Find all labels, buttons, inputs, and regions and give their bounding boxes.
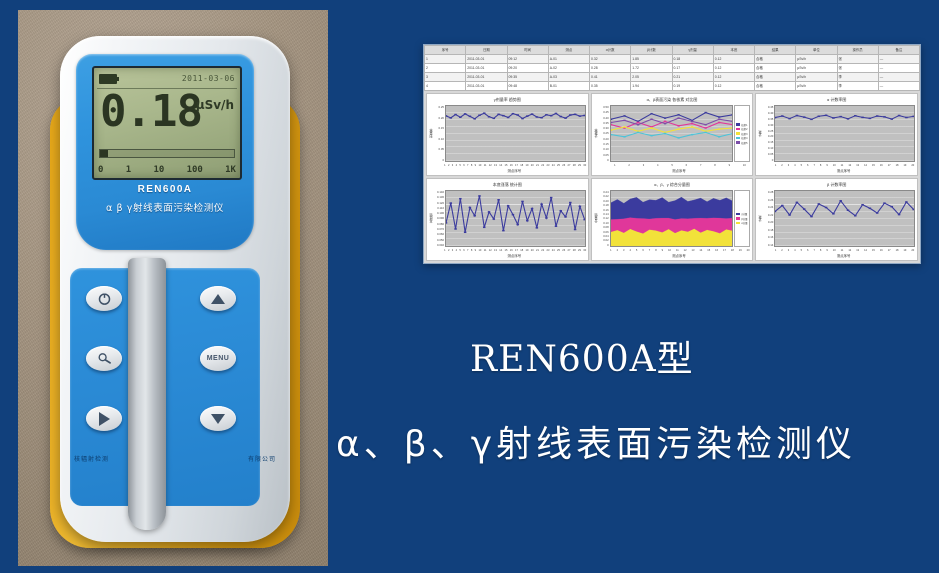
table-cell: 1.85 (631, 55, 672, 64)
legend-item: γ分量 (736, 212, 748, 216)
y-tick-label: 0.35 (599, 121, 609, 125)
table-cell: 2 (425, 64, 466, 73)
table-cell: μSv/h (796, 64, 837, 73)
x-tick-label: 9 (475, 164, 476, 167)
backlight-button[interactable] (86, 346, 122, 371)
x-tick-label: 19 (526, 249, 529, 252)
lcd-bargraph (99, 149, 235, 158)
y-tick-label: 0.25 (434, 105, 444, 109)
x-tick-label: 5 (636, 249, 637, 252)
table-cell: 09:48 (507, 82, 548, 91)
chart-y-ticks: 0.240.220.200.180.160.140.120.100.080.06… (599, 190, 610, 247)
x-tick-label: 8 (655, 249, 656, 252)
chart-y-axis-label: 本底值 (428, 190, 434, 247)
y-tick-label: 0.30 (599, 126, 609, 130)
chart-legend: γ分量β分量α分量 (734, 190, 750, 247)
x-tick-label: 8 (714, 164, 715, 167)
x-tick-label: 11 (841, 249, 844, 252)
x-tick-label: 13 (856, 249, 859, 252)
y-tick-label: 0.35 (763, 117, 773, 121)
table-header-cell: 序号 (425, 46, 466, 55)
x-tick-label: 1 (775, 164, 776, 167)
table-header-cell: 测点 (548, 46, 589, 55)
table-cell: B-01 (548, 82, 589, 91)
footer-left-text: 核辐射检测 (74, 454, 109, 463)
x-tick-label: 15 (707, 249, 710, 252)
lcd-screen: 2011-03-06 0.18 μSv/h 0 1 10 100 1K (92, 66, 242, 180)
x-tick-label: 18 (520, 249, 523, 252)
y-tick-label: 0.10 (434, 137, 444, 141)
table-cell: 合格 (755, 82, 796, 91)
table-row[interactable]: 22011-03-0109:20A-020.281.720.170.12合格μS… (425, 64, 920, 73)
y-tick-label: 0.090 (434, 216, 444, 220)
chart-plot-area (774, 105, 915, 162)
x-tick-label: 13 (856, 164, 859, 167)
x-tick-label: 17 (888, 164, 891, 167)
x-tick-label: 3 (452, 249, 453, 252)
down-button[interactable] (200, 406, 236, 431)
y-tick-label: 0.130 (434, 195, 444, 199)
table-header-cell: 时间 (507, 46, 548, 55)
x-tick-label: 1 (775, 249, 776, 252)
legend-swatch (736, 213, 740, 216)
x-tick-label: 8 (471, 249, 472, 252)
y-tick-label: 0.24 (599, 190, 609, 194)
scale-tick: 10 (153, 165, 164, 175)
table-cell: μSv/h (796, 82, 837, 91)
legend-swatch (736, 217, 740, 220)
lcd-scale-ticks: 0 1 10 100 1K (98, 164, 236, 176)
y-tick-label: 0.05 (763, 152, 773, 156)
table-header-cell: 结果 (755, 46, 796, 55)
x-tick-label: 15 (872, 164, 875, 167)
x-tick-label: 17 (515, 249, 518, 252)
lamp-icon (97, 351, 112, 366)
x-tick-label: 12 (489, 249, 492, 252)
table-cell: 09:12 (507, 55, 548, 64)
table-row[interactable]: 12011-03-0109:12A-010.321.850.180.12合格μS… (425, 55, 920, 64)
y-tick-label: 0.20 (599, 137, 609, 141)
table-row[interactable]: 42011-03-0109:48B-010.351.940.190.12合格μS… (425, 82, 920, 91)
y-tick-label: 0.140 (434, 190, 444, 194)
legend-swatch (736, 123, 740, 126)
chart-legend: 核素1核素2核素3核素4核素5 (734, 105, 750, 162)
chart-title: α、β、γ 综合分量图 (592, 179, 753, 189)
y-tick-label: 0.45 (599, 110, 609, 114)
x-tick-label: 23 (547, 249, 550, 252)
table-cell: — (878, 55, 919, 64)
x-tick-label: 26 (562, 164, 565, 167)
y-tick-label: 0.120 (434, 201, 444, 205)
x-tick-label: 6 (807, 164, 808, 167)
legend-item: 核素4 (736, 136, 748, 140)
y-tick-label: 0.08 (599, 225, 609, 229)
x-tick-label: 14 (699, 249, 702, 252)
y-tick-label: 0.15 (599, 142, 609, 146)
x-tick-label: 16 (715, 249, 718, 252)
x-tick-label: 18 (896, 249, 899, 252)
y-tick-label: 0.18 (599, 203, 609, 207)
x-tick-label: 5 (801, 249, 802, 252)
legend-item: 核素1 (736, 123, 748, 127)
x-tick-label: 5 (459, 164, 460, 167)
x-tick-label: 7 (467, 164, 468, 167)
x-tick-label: 30 (583, 164, 586, 167)
y-tick-label: 0.40 (599, 116, 609, 120)
table-cell: 1.94 (631, 82, 672, 91)
device-footer-text: 核辐射检测 有限公司 (50, 454, 300, 463)
x-tick-label: 22 (541, 164, 544, 167)
y-tick-label: 0.22 (599, 194, 609, 198)
x-tick-label: 11 (676, 249, 679, 252)
slide-canvas: 2011-03-06 0.18 μSv/h 0 1 10 100 1K (0, 0, 939, 573)
table-header-cell: 本底 (713, 46, 754, 55)
x-tick-label: 28 (573, 164, 576, 167)
x-tick-label: 4 (657, 164, 658, 167)
play-icon (99, 412, 110, 426)
chart-body: 计数0.450.400.350.300.250.200.150.100.050 (756, 104, 917, 162)
menu-button-label: MENU (207, 355, 230, 362)
table-header-cell: 日期 (466, 46, 507, 55)
table-row[interactable]: 32011-03-0109:35A-030.412.050.210.12合格μS… (425, 73, 920, 82)
x-tick-label: 20 (747, 249, 750, 252)
y-tick-label: 0.070 (434, 227, 444, 231)
y-tick-label: 0.40 (763, 111, 773, 115)
chart-x-axis-label: 测点序号 (427, 168, 588, 175)
chart-x-axis-label: 测点序号 (592, 168, 753, 175)
lcd-reading-value: 0.18 (100, 90, 242, 134)
table-header-row: 序号日期时间测点α计数β计数γ剂量本底结果单位操作员备注 (425, 46, 920, 55)
legend-label: β分量 (741, 217, 747, 221)
x-tick-label: 6 (463, 164, 464, 167)
chart-y-axis-label: 计数 (757, 190, 763, 247)
x-tick-label: 6 (463, 249, 464, 252)
x-tick-label: 2 (448, 249, 449, 252)
x-tick-label: 24 (552, 249, 555, 252)
device-model-label: REN600A (76, 184, 254, 195)
chart-x-axis-label: 测点序号 (592, 253, 753, 260)
legend-swatch (736, 222, 740, 225)
x-tick-label: 20 (531, 249, 534, 252)
x-tick-label: 13 (494, 249, 497, 252)
x-tick-label: 12 (684, 249, 687, 252)
chart-y-axis-label: 剂量率 (428, 105, 434, 162)
x-tick-label: 3 (452, 164, 453, 167)
x-tick-label: 9 (662, 249, 663, 252)
y-tick-label: 0.04 (599, 234, 609, 238)
x-tick-label: 1 (614, 164, 615, 167)
y-tick-label: 0.45 (763, 105, 773, 109)
legend-label: 核素2 (741, 127, 747, 131)
page-title-product: α、β、γ射线表面污染检测仪 (336, 415, 936, 467)
chart-body: 本底值0.1400.1300.1200.1100.1000.0900.0800.… (427, 189, 588, 247)
x-tick-label: 24 (552, 164, 555, 167)
legend-swatch (736, 132, 740, 135)
x-tick-label: 10 (743, 164, 746, 167)
y-tick-label: 0.26 (763, 198, 773, 202)
table-header-cell: 备注 (878, 46, 919, 55)
legend-item: β分量 (736, 217, 748, 221)
x-tick-label: 28 (573, 249, 576, 252)
x-tick-label: 4 (456, 164, 457, 167)
chart-stacked-composition[interactable]: α、β、γ 综合分量图分量值0.240.220.200.180.160.140.… (591, 178, 754, 261)
table-cell: 2011-03-01 (466, 55, 507, 64)
chart-beta-count[interactable]: β 计数率图计数0.280.260.240.220.200.180.160.14… (755, 178, 918, 261)
chart-y-axis-label: 计数率 (593, 105, 599, 162)
table-cell: 1 (425, 55, 466, 64)
chart-title: β 计数率图 (756, 179, 917, 189)
software-report-panel: 序号日期时间测点α计数β计数γ剂量本底结果单位操作员备注 12011-03-01… (423, 44, 921, 264)
y-tick-label: 0.25 (763, 129, 773, 133)
upper-faceplate: 2011-03-06 0.18 μSv/h 0 1 10 100 1K (76, 54, 254, 250)
x-tick-label: 7 (649, 249, 650, 252)
x-tick-label: 5 (459, 249, 460, 252)
chart-title: γ剂量率 趋势图 (427, 94, 588, 104)
scale-tick: 100 (187, 165, 203, 175)
menu-button[interactable]: MENU (200, 346, 236, 371)
y-tick-label: 0.20 (599, 199, 609, 203)
x-tick-label: 7 (813, 164, 814, 167)
x-tick-label: 7 (813, 249, 814, 252)
y-tick-label: 0.10 (763, 146, 773, 150)
table-cell: A-02 (548, 64, 589, 73)
x-tick-label: 8 (820, 249, 821, 252)
y-tick-label: 0.05 (434, 147, 444, 151)
x-tick-label: 3 (788, 164, 789, 167)
y-tick-label: 0.060 (434, 232, 444, 236)
table-cell: A-01 (548, 55, 589, 64)
x-tick-label: 8 (471, 164, 472, 167)
table-cell: — (878, 64, 919, 73)
x-tick-label: 8 (820, 164, 821, 167)
x-tick-label: 5 (671, 164, 672, 167)
table-header-cell: 操作员 (837, 46, 878, 55)
x-tick-label: 16 (880, 249, 883, 252)
x-tick-label: 17 (888, 249, 891, 252)
y-tick-label: 0.20 (763, 220, 773, 224)
chart-y-ticks: 0.280.260.240.220.200.180.160.14 (763, 190, 774, 247)
table-cell: 2011-03-01 (466, 82, 507, 91)
chart-body: 计数率0.500.450.400.350.300.250.200.150.100… (592, 104, 753, 162)
x-tick-label: 2 (448, 164, 449, 167)
x-tick-label: 17 (515, 164, 518, 167)
legend-item: 核素5 (736, 141, 748, 145)
x-tick-label: 17 (723, 249, 726, 252)
table-cell: 张 (837, 64, 878, 73)
chart-y-ticks: 0.450.400.350.300.250.200.150.100.050 (763, 105, 774, 162)
y-tick-label: 0.28 (763, 190, 773, 194)
scale-tick: 0 (98, 165, 103, 175)
power-icon (97, 291, 112, 306)
x-tick-label: 2 (781, 249, 782, 252)
x-tick-label: 18 (731, 249, 734, 252)
y-tick-label: 0.30 (763, 123, 773, 127)
x-tick-label: 14 (864, 164, 867, 167)
legend-label: γ分量 (741, 212, 747, 216)
x-tick-label: 9 (826, 249, 827, 252)
y-tick-label: 0.25 (599, 131, 609, 135)
table-cell: 4 (425, 82, 466, 91)
chart-plot-area (445, 190, 586, 247)
table-cell: 0.35 (590, 82, 631, 91)
up-button[interactable] (200, 286, 236, 311)
start-button[interactable] (86, 406, 122, 431)
y-tick-label: 0.22 (763, 213, 773, 217)
legend-label: 核素4 (741, 136, 747, 140)
chart-plot-area (445, 105, 586, 162)
x-tick-label: 16 (510, 249, 513, 252)
chart-plot-area (610, 105, 734, 162)
scale-tick: 1K (225, 165, 236, 175)
chart-background[interactable]: 本底涨落 统计图本底值0.1400.1300.1200.1100.1000.09… (426, 178, 589, 261)
x-tick-label: 16 (880, 164, 883, 167)
table-cell: 0.12 (713, 55, 754, 64)
battery-icon (99, 74, 117, 84)
x-tick-label: 16 (510, 164, 513, 167)
x-tick-label: 25 (557, 249, 560, 252)
x-tick-label: 14 (499, 164, 502, 167)
x-tick-label: 11 (484, 164, 487, 167)
y-tick-label: 0.16 (599, 208, 609, 212)
x-tick-label: 19 (903, 164, 906, 167)
y-tick-label: 0.12 (599, 216, 609, 220)
x-tick-label: 6 (642, 249, 643, 252)
chart-y-ticks: 0.1400.1300.1200.1100.1000.0900.0800.070… (434, 190, 445, 247)
x-tick-label: 14 (499, 249, 502, 252)
chart-alpha-beta-multi[interactable]: α、β表面污染 各核素 对比图计数率0.500.450.400.350.300.… (591, 93, 754, 176)
x-tick-label: 7 (467, 249, 468, 252)
x-tick-label: 13 (494, 164, 497, 167)
x-tick-label: 2 (617, 249, 618, 252)
x-tick-label: 21 (536, 164, 539, 167)
x-tick-label: 4 (794, 164, 795, 167)
x-tick-label: 25 (557, 164, 560, 167)
table-cell: 09:20 (507, 64, 548, 73)
chart-y-ticks: 0.250.200.150.100.050 (434, 105, 445, 162)
chart-title: 本底涨落 统计图 (427, 179, 588, 189)
chart-grid: γ剂量率 趋势图剂量率0.250.200.150.100.05012345678… (424, 91, 920, 263)
x-tick-label: 11 (484, 249, 487, 252)
x-tick-label: 29 (578, 249, 581, 252)
chart-x-axis-label: 测点序号 (756, 253, 917, 260)
x-tick-label: 10 (478, 249, 481, 252)
x-tick-label: 6 (807, 249, 808, 252)
x-tick-label: 10 (668, 249, 671, 252)
x-tick-label: 12 (848, 164, 851, 167)
lcd-status-bar: 2011-03-06 (94, 70, 240, 87)
table-cell: μSv/h (796, 55, 837, 64)
x-tick-label: 10 (833, 164, 836, 167)
x-tick-label: 12 (489, 164, 492, 167)
legend-label: α分量 (741, 221, 747, 225)
table-cell: 1.72 (631, 64, 672, 73)
x-tick-label: 9 (729, 164, 730, 167)
legend-label: 核素1 (741, 123, 747, 127)
triangle-up-icon (211, 294, 225, 304)
table-cell: A-03 (548, 73, 589, 82)
chart-y-axis-label: 分量值 (593, 190, 599, 247)
table-header-cell: β计数 (631, 46, 672, 55)
y-tick-label: 0.15 (763, 140, 773, 144)
chart-title: α、β表面污染 各核素 对比图 (592, 94, 753, 104)
x-tick-label: 21 (536, 249, 539, 252)
scale-tick: 1 (126, 165, 131, 175)
x-tick-label: 4 (629, 249, 630, 252)
table-cell: 0.28 (590, 64, 631, 73)
legend-swatch (736, 141, 740, 144)
x-tick-label: 19 (739, 249, 742, 252)
x-tick-label: 10 (478, 164, 481, 167)
table-cell: 0.17 (672, 64, 713, 73)
x-tick-label: 11 (841, 164, 844, 167)
chart-alpha-count[interactable]: α 计数率图计数0.450.400.350.300.250.200.150.10… (755, 93, 918, 176)
table-cell: 0.21 (672, 73, 713, 82)
x-tick-label: 30 (583, 249, 586, 252)
table-cell: — (878, 73, 919, 82)
x-tick-label: 7 (700, 164, 701, 167)
table-cell: 合格 (755, 64, 796, 73)
table-header: 序号日期时间测点α计数β计数γ剂量本底结果单位操作员备注 (425, 46, 920, 55)
x-tick-label: 12 (848, 249, 851, 252)
x-tick-label: 19 (903, 249, 906, 252)
x-tick-label: 27 (568, 249, 571, 252)
x-tick-label: 3 (623, 249, 624, 252)
x-tick-label: 15 (505, 249, 508, 252)
y-tick-label: 0.16 (763, 235, 773, 239)
x-tick-label: 2 (628, 164, 629, 167)
y-tick-label: 0.050 (434, 238, 444, 242)
legend-label: 核素5 (741, 141, 747, 145)
table-cell: — (878, 82, 919, 91)
table-cell: 李 (837, 82, 878, 91)
chart-title: α 计数率图 (756, 94, 917, 104)
table-cell: 0.41 (590, 73, 631, 82)
x-tick-label: 18 (896, 164, 899, 167)
x-tick-label: 29 (578, 164, 581, 167)
chart-plot-area (774, 190, 915, 247)
power-button[interactable] (86, 286, 122, 311)
y-tick-label: 0.110 (434, 206, 444, 210)
x-tick-label: 10 (833, 249, 836, 252)
lcd-bargraph-fill (100, 150, 108, 157)
chart-body: 计数0.280.260.240.220.200.180.160.14 (756, 189, 917, 247)
chart-gamma-dose[interactable]: γ剂量率 趋势图剂量率0.250.200.150.100.05012345678… (426, 93, 589, 176)
lcd-status-time: 2011-03-06 (182, 74, 235, 83)
x-tick-label: 20 (911, 164, 914, 167)
x-tick-label: 1 (444, 249, 445, 252)
device-chinese-label: α β γ射线表面污染检测仪 (76, 200, 254, 214)
x-tick-label: 2 (781, 164, 782, 167)
x-tick-label: 3 (643, 164, 644, 167)
x-tick-label: 4 (456, 249, 457, 252)
lcd-reading-unit: μSv/h (196, 98, 234, 112)
x-tick-label: 26 (562, 249, 565, 252)
legend-item: 核素3 (736, 132, 748, 136)
chart-x-axis-label: 测点序号 (756, 168, 917, 175)
x-tick-label: 3 (788, 249, 789, 252)
y-tick-label: 0.18 (763, 228, 773, 232)
x-tick-label: 14 (864, 249, 867, 252)
legend-item: α分量 (736, 221, 748, 225)
y-tick-label: 0.20 (434, 116, 444, 120)
x-tick-label: 23 (547, 164, 550, 167)
table-header-cell: 单位 (796, 46, 837, 55)
x-tick-label: 5 (801, 164, 802, 167)
table-cell: 合格 (755, 73, 796, 82)
table-cell: 李 (837, 73, 878, 82)
table-cell: 0.19 (672, 82, 713, 91)
y-tick-label: 0.10 (599, 147, 609, 151)
